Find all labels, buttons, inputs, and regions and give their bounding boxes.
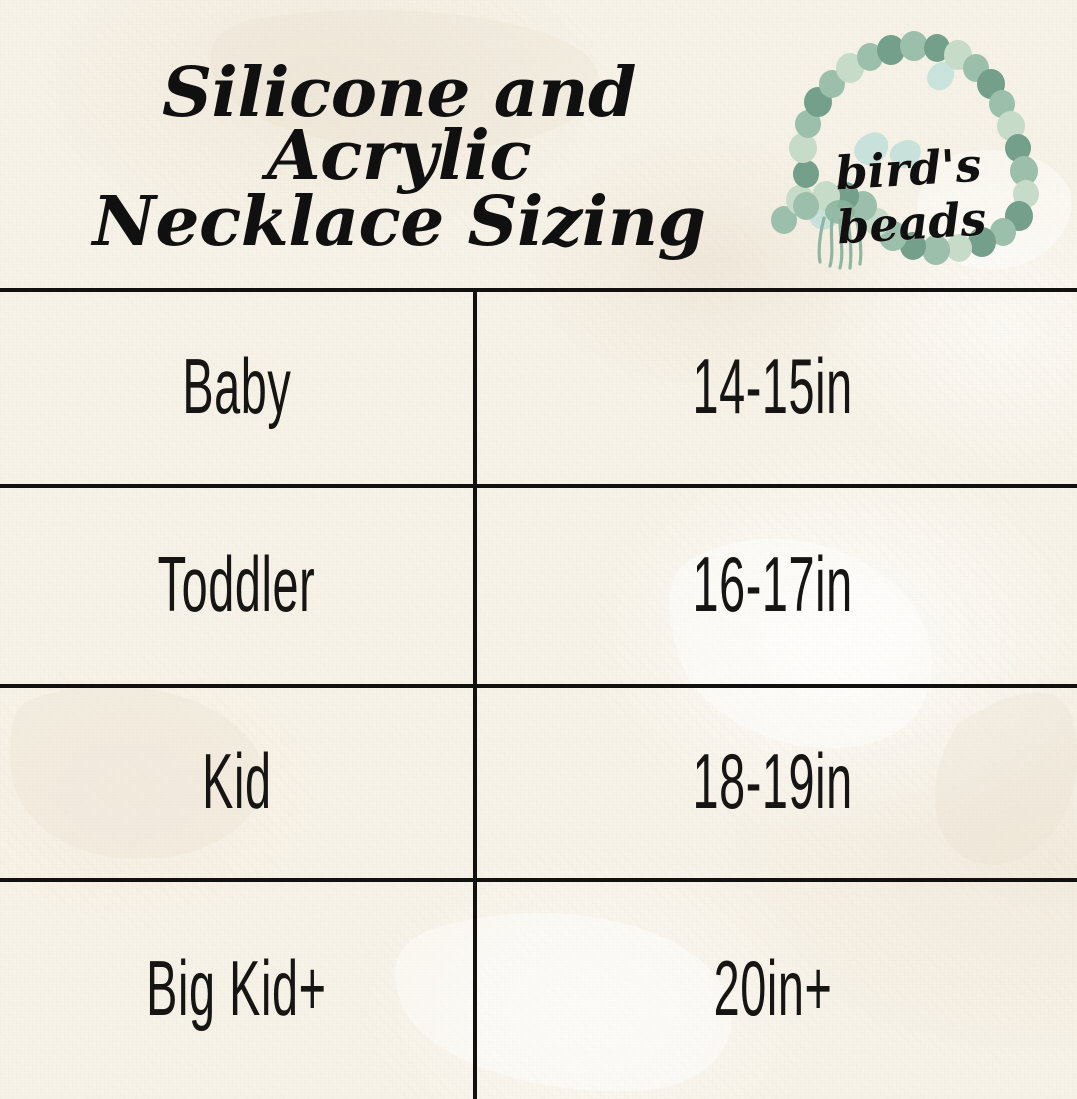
- table-cell-length: 14-15in: [473, 288, 1073, 484]
- sizing-table: Baby 14-15in Toddler 16-17in Kid 18-19in: [0, 288, 1077, 1099]
- size-label: Kid: [202, 736, 271, 827]
- table-cell-size: Kid: [0, 684, 473, 878]
- table-row: Big Kid+ 20in+: [0, 878, 1077, 1099]
- table-cell-length: 18-19in: [473, 684, 1073, 878]
- length-value: 16-17in: [693, 539, 853, 630]
- length-value: 18-19in: [693, 736, 853, 827]
- table-cell-size: Baby: [0, 288, 473, 484]
- table-cell-length: 20in+: [473, 878, 1073, 1099]
- sizing-chart-page: Silicone and Acrylic Necklace Sizing: [0, 0, 1077, 1099]
- page-title: Silicone and Acrylic Necklace Sizing: [34, 62, 764, 254]
- table-row: Baby 14-15in: [0, 288, 1077, 484]
- size-label: Toddler: [158, 539, 316, 630]
- table-row: Toddler 16-17in: [0, 484, 1077, 684]
- table-row: Kid 18-19in: [0, 684, 1077, 878]
- brand-logo: bird's beads: [760, 24, 1060, 286]
- title-line-1: Silicone and Acrylic: [27, 62, 772, 187]
- bead-necklace-icon: [760, 24, 1060, 286]
- tassel-cap-icon: [825, 200, 855, 224]
- title-line-2: Necklace Sizing: [27, 191, 772, 254]
- length-value: 14-15in: [693, 341, 853, 432]
- table-cell-size: Big Kid+: [0, 878, 473, 1099]
- table-cell-size: Toddler: [0, 484, 473, 684]
- table-cell-length: 16-17in: [473, 484, 1073, 684]
- length-value: 20in+: [714, 943, 833, 1034]
- size-label: Baby: [182, 341, 291, 432]
- size-label: Big Kid+: [146, 943, 326, 1034]
- header: Silicone and Acrylic Necklace Sizing: [0, 0, 1077, 288]
